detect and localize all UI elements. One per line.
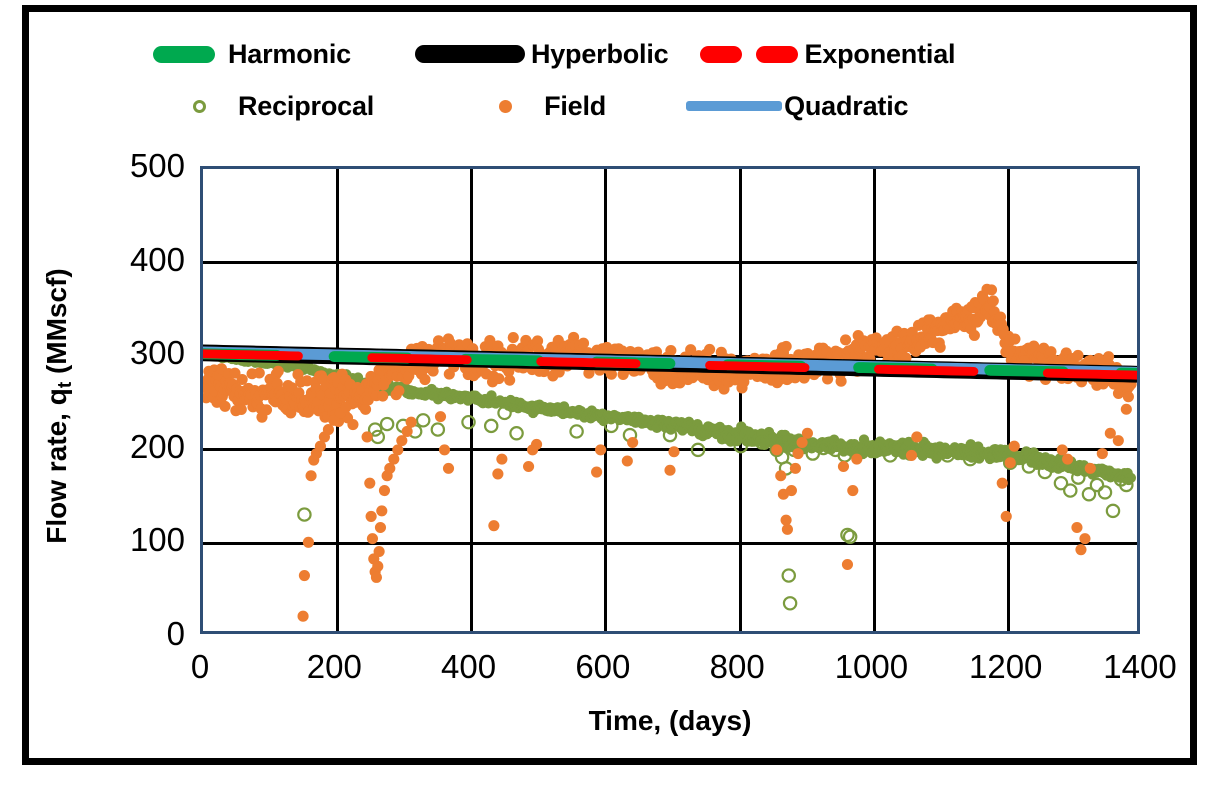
plot-wrapper [200, 166, 1140, 634]
plot-area [200, 166, 1140, 634]
harmonic-line-swatch-icon [140, 46, 228, 63]
y-tick-500: 500 [95, 147, 185, 185]
legend-label-exponential: Exponential [804, 39, 955, 70]
y-axis-tick-labels: 5004003002001000 [95, 166, 185, 634]
hyperbolic-line-swatch-icon [409, 45, 531, 63]
legend-label-quadratic: Quadratic [784, 91, 908, 122]
y-tick-200: 200 [95, 428, 185, 466]
x-tick-1000: 1000 [811, 648, 931, 686]
legend-row-2: Reciprocal Field Quadratic [120, 80, 1120, 132]
x-tick-600: 600 [543, 648, 663, 686]
x-tick-400: 400 [409, 648, 529, 686]
y-axis-title-main: Flow rate, q [41, 388, 72, 544]
x-tick-800: 800 [677, 648, 797, 686]
legend-row-1: Harmonic Hyperbolic Exponential [120, 28, 1120, 80]
chart-figure: Harmonic Hyperbolic Exponential [0, 0, 1225, 810]
legend-label-hyperbolic: Hyperbolic [531, 39, 669, 70]
y-tick-300: 300 [95, 334, 185, 372]
y-tick-100: 100 [95, 521, 185, 559]
legend-item-exponential[interactable]: Exponential [694, 39, 955, 70]
legend-item-field[interactable]: Field [466, 91, 606, 122]
y-tick-400: 400 [95, 241, 185, 279]
legend-label-field: Field [544, 91, 606, 122]
exponential-dashed-swatch-icon [694, 46, 804, 63]
field-filled-circle-swatch-icon [466, 100, 544, 113]
legend-item-hyperbolic[interactable]: Hyperbolic [409, 39, 669, 70]
x-axis-title: Time, (days) [200, 705, 1140, 737]
plot-inner [203, 169, 1137, 631]
legend-item-reciprocal[interactable]: Reciprocal [160, 91, 374, 122]
x-axis-tick-labels: 0200400600800100012001400 [200, 648, 1140, 693]
legend-item-harmonic[interactable]: Harmonic [140, 39, 351, 70]
y-axis-title-subscript: t [55, 382, 76, 388]
x-tick-0: 0 [140, 648, 260, 686]
legend-item-quadratic[interactable]: Quadratic [684, 91, 908, 122]
chart-legend: Harmonic Hyperbolic Exponential [120, 28, 1120, 148]
y-axis-title-unit: (MMscf) [41, 268, 72, 382]
x-tick-1400: 1400 [1080, 648, 1200, 686]
x-tick-1200: 1200 [946, 648, 1066, 686]
y-axis-title: Flow rate, qt (MMscf) [41, 171, 73, 641]
quadratic-line-swatch-icon [684, 101, 784, 111]
legend-label-reciprocal: Reciprocal [238, 91, 374, 122]
reciprocal-open-circle-swatch-icon [160, 100, 238, 113]
x-tick-200: 200 [274, 648, 394, 686]
chart-data-layer [203, 169, 1137, 631]
legend-label-harmonic: Harmonic [228, 39, 351, 70]
